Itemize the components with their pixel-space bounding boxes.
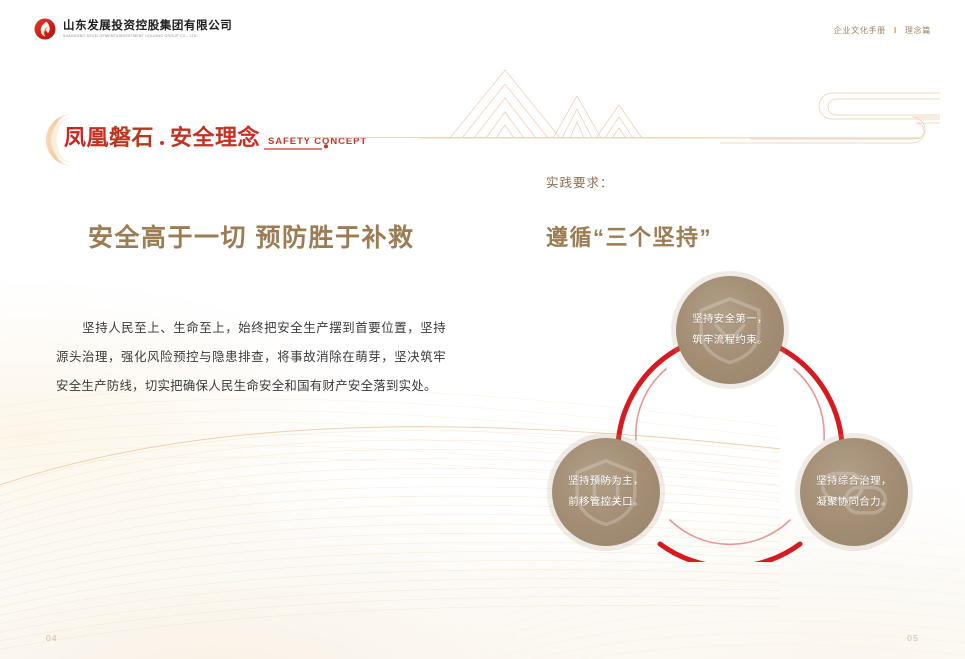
node-top[interactable]: 坚持安全第一， 筑牢流程约束。 — [676, 276, 784, 384]
company-logo[interactable]: 山东发展投资控股集团有限公司 SHANDONG DEVELOPMENT&INVE… — [34, 18, 232, 40]
page-number-left: 04 — [46, 633, 58, 643]
page-number-right: 05 — [907, 633, 919, 643]
paragraph-text: 坚持人民至上、生命至上，始终把安全生产摆到首要位置，坚持源头治理，强化风险预控与… — [56, 321, 446, 393]
node-right[interactable]: 坚持综合治理， 凝聚协同合力。 — [800, 438, 908, 546]
three-persistences-diagram: 坚持安全第一， 筑牢流程约束。 坚持预防为主， 前移管控关口。 坚持综合治理， … — [530, 272, 930, 562]
page-header: 山东发展投资控股集团有限公司 SHANDONG DEVELOPMENT&INVE… — [0, 0, 965, 50]
mountain-ornament — [420, 55, 940, 175]
node-top-label: 坚持安全第一， 筑牢流程约束。 — [692, 309, 768, 351]
header-divider-rule — [305, 137, 919, 138]
breadcrumb-separator: I — [894, 26, 897, 35]
badge-underline-decoration — [264, 144, 330, 153]
node-left[interactable]: 坚持预防为主， 前移管控关口。 — [552, 438, 660, 546]
logo-company-name-cn: 山东发展投资控股集团有限公司 — [63, 20, 232, 33]
node-right-label: 坚持综合治理， 凝聚协同合力。 — [816, 471, 892, 513]
body-paragraph: 坚持人民至上、生命至上，始终把安全生产摆到首要位置，坚持源头治理，强化风险预控与… — [56, 314, 446, 401]
logo-company-name-en: SHANDONG DEVELOPMENT&INVESTMENT HOLDING … — [63, 33, 232, 39]
badge-main-title: 凤凰磐石 — [64, 120, 154, 152]
breadcrumb-section-label: 理念篇 — [905, 25, 931, 36]
logo-mark-icon — [34, 18, 56, 40]
badge-separator-dot — [160, 141, 164, 145]
header-breadcrumb: 企业文化手册 I 理念篇 — [834, 25, 931, 36]
node-left-label: 坚持预防为主， 前移管控关口。 — [568, 471, 644, 513]
requirement-label: 实践要求： — [546, 172, 614, 191]
breadcrumb-manual-label: 企业文化手册 — [834, 25, 886, 36]
page-headline: 安全高于一切 预防胜于补救 — [88, 218, 414, 254]
badge-sub-title: 安全理念 — [170, 120, 260, 152]
page-canvas: 山东发展投资控股集团有限公司 SHANDONG DEVELOPMENT&INVE… — [0, 0, 965, 659]
requirement-title: 遵循“三个坚持” — [546, 220, 712, 252]
